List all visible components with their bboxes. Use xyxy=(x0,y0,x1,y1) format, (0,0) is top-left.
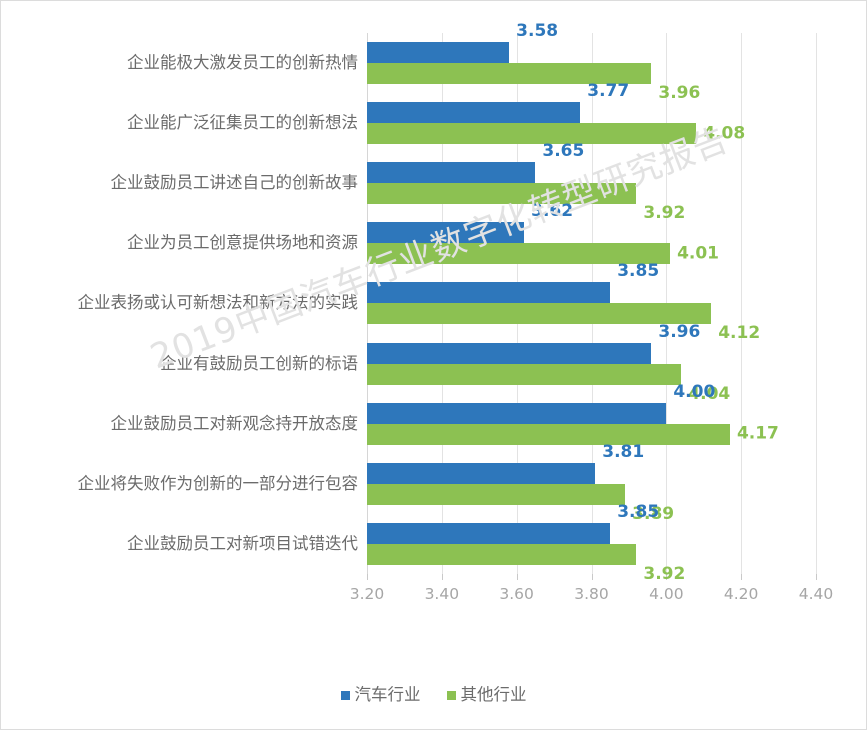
bar-value-label: 3.65 xyxy=(542,143,584,160)
chart-container: 2019中国汽车行业数字化转型研究报告 企业能极大激发员工的创新热情3.583.… xyxy=(0,0,867,730)
x-axis-tick-label: 3.40 xyxy=(425,585,460,603)
legend-label: 其他行业 xyxy=(461,687,527,704)
bar-value-label: 4.08 xyxy=(703,125,745,142)
bar-value-label: 4.17 xyxy=(737,426,779,443)
x-axis-tick-label: 3.20 xyxy=(350,585,385,603)
x-axis-tick-label: 4.40 xyxy=(799,585,834,603)
bar-other-industry[interactable]: 3.92 xyxy=(367,183,636,204)
bar-other-industry[interactable]: 4.17 xyxy=(367,424,730,445)
chart-category-band: 企业表扬或认可新想法和新方法的实践3.854.12 xyxy=(367,273,816,333)
category-axis-label: 企业鼓励员工对新项目试错迭代 xyxy=(127,536,358,553)
bar-value-label: 4.01 xyxy=(677,245,719,262)
chart-category-band: 企业鼓励员工讲述自己的创新故事3.653.92 xyxy=(367,153,816,213)
category-axis-label: 企业鼓励员工对新观念持开放态度 xyxy=(111,415,359,432)
bar-other-industry[interactable]: 3.89 xyxy=(367,484,625,505)
bar-auto-industry[interactable]: 3.96 xyxy=(367,343,651,364)
chart-category-band: 企业鼓励员工对新观念持开放态度4.004.17 xyxy=(367,394,816,454)
gridline xyxy=(816,33,817,574)
bar-auto-industry[interactable]: 3.77 xyxy=(367,102,580,123)
bar-auto-industry[interactable]: 3.85 xyxy=(367,523,610,544)
bar-value-label: 3.77 xyxy=(587,83,629,100)
category-axis-label: 企业将失败作为创新的一部分进行包容 xyxy=(78,476,359,493)
chart-category-band: 企业有鼓励员工创新的标语3.964.04 xyxy=(367,334,816,394)
bar-value-label: 3.58 xyxy=(516,23,558,40)
x-axis-tick-label: 3.60 xyxy=(499,585,534,603)
legend-item[interactable]: 汽车行业 xyxy=(341,687,421,704)
x-axis-tick-label: 4.00 xyxy=(649,585,684,603)
legend-swatch-icon xyxy=(341,691,350,700)
bar-value-label: 4.00 xyxy=(673,384,715,401)
x-axis-tick-label: 4.20 xyxy=(724,585,759,603)
category-axis-label: 企业能极大激发员工的创新热情 xyxy=(127,55,358,72)
bar-value-label: 3.62 xyxy=(531,203,573,220)
category-axis-label: 企业有鼓励员工创新的标语 xyxy=(160,355,358,372)
bar-value-label: 3.85 xyxy=(617,504,659,521)
legend-label: 汽车行业 xyxy=(355,687,421,704)
bar-value-label: 3.96 xyxy=(658,324,700,341)
bar-other-industry[interactable]: 4.04 xyxy=(367,364,681,385)
plot-area: 企业能极大激发员工的创新热情3.583.96企业能广泛征集员工的创新想法3.77… xyxy=(367,33,816,574)
bar-auto-industry[interactable]: 3.65 xyxy=(367,162,535,183)
category-axis-label: 企业鼓励员工讲述自己的创新故事 xyxy=(111,175,359,192)
bar-auto-industry[interactable]: 3.58 xyxy=(367,42,509,63)
bar-value-label: 3.81 xyxy=(602,444,644,461)
x-axis-tick-mark xyxy=(816,574,817,580)
x-axis: 3.203.403.603.804.004.204.40 xyxy=(367,574,816,604)
chart-category-band: 企业为员工创意提供场地和资源3.624.01 xyxy=(367,213,816,273)
bar-value-label: 3.85 xyxy=(617,263,659,280)
chart-category-band: 企业将失败作为创新的一部分进行包容3.813.89 xyxy=(367,454,816,514)
bar-other-industry[interactable]: 4.08 xyxy=(367,123,696,144)
chart-category-band: 企业鼓励员工对新项目试错迭代3.853.92 xyxy=(367,514,816,574)
category-axis-label: 企业为员工创意提供场地和资源 xyxy=(127,235,358,252)
category-axis-label: 企业表扬或认可新想法和新方法的实践 xyxy=(78,295,359,312)
chart-category-band: 企业能广泛征集员工的创新想法3.774.08 xyxy=(367,93,816,153)
legend-item[interactable]: 其他行业 xyxy=(447,687,527,704)
chart-legend: 汽车行业其他行业 xyxy=(1,687,866,704)
x-axis-tick-label: 3.80 xyxy=(574,585,609,603)
bar-auto-industry[interactable]: 4.00 xyxy=(367,403,666,424)
bar-auto-industry[interactable]: 3.62 xyxy=(367,222,524,243)
category-axis-label: 企业能广泛征集员工的创新想法 xyxy=(127,115,358,132)
bar-auto-industry[interactable]: 3.85 xyxy=(367,282,610,303)
bar-auto-industry[interactable]: 3.81 xyxy=(367,463,595,484)
legend-swatch-icon xyxy=(447,691,456,700)
bar-other-industry[interactable]: 3.92 xyxy=(367,544,636,565)
